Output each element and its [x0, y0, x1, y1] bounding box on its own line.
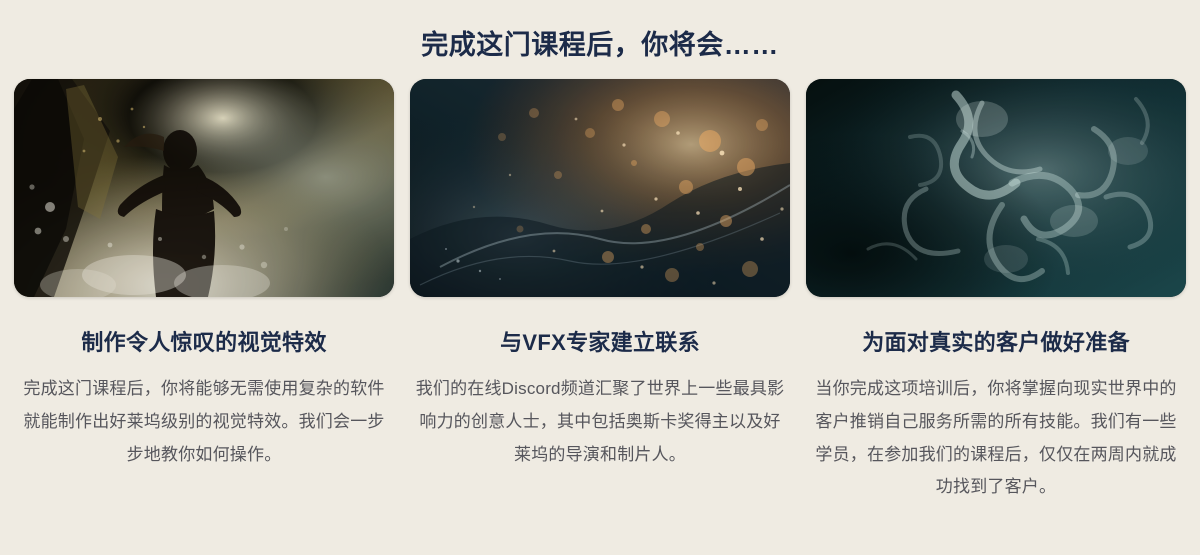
benefit-card: 制作令人惊叹的视觉特效 完成这门课程后，你将能够无需使用复杂的软件就能制作出好莱… — [14, 79, 394, 504]
benefit-card: 为面对真实的客户做好准备 当你完成这项培训后，你将掌握向现实世界中的客户推销自己… — [806, 79, 1186, 504]
card-heading: 与VFX专家建立联系 — [500, 329, 700, 358]
benefit-card: 与VFX专家建立联系 我们的在线Discord频道汇聚了世界上一些最具影响力的创… — [410, 79, 790, 504]
card-description: 我们的在线Discord频道汇聚了世界上一些最具影响力的创意人士，其中包括奥斯卡… — [415, 373, 785, 471]
card-description: 完成这门课程后，你将能够无需使用复杂的软件就能制作出好莱坞级别的视觉特效。我们会… — [19, 373, 389, 471]
card-image-sparks-bokeh — [410, 79, 790, 297]
card-image-waterfall-runner — [14, 79, 394, 297]
card-description: 当你完成这项培训后，你将掌握向现实世界中的客户推销自己服务所需的所有技能。我们有… — [811, 373, 1181, 504]
benefit-card-list: 制作令人惊叹的视觉特效 完成这门课程后，你将能够无需使用复杂的软件就能制作出好莱… — [0, 79, 1200, 504]
benefits-section: 完成这门课程后，你将会…… — [0, 0, 1200, 555]
card-heading: 制作令人惊叹的视觉特效 — [81, 329, 326, 358]
card-image-teal-smoke — [806, 79, 1186, 297]
card-heading: 为面对真实的客户做好准备 — [862, 329, 1130, 358]
page-title: 完成这门课程后，你将会…… — [0, 0, 1200, 63]
